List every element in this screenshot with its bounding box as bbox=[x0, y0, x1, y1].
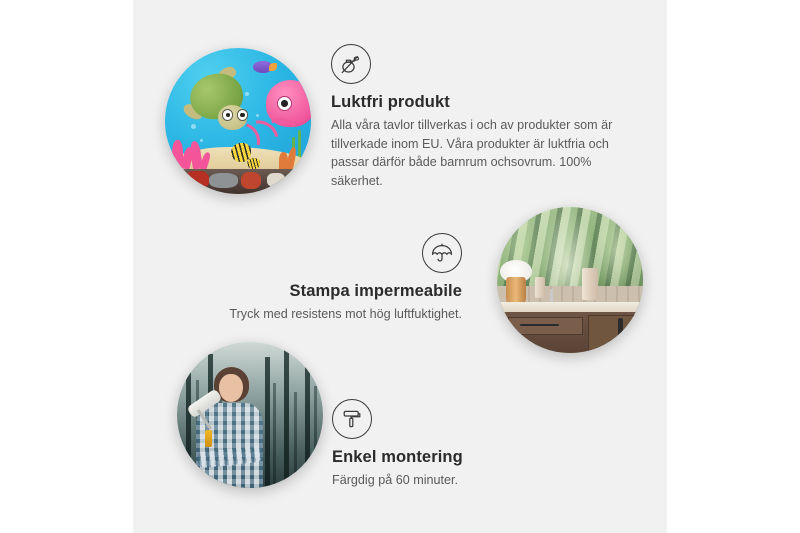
feature-body: Alla våra tavlor tillverkas i och av pro… bbox=[331, 116, 631, 191]
ocean-foreground-strip bbox=[165, 169, 311, 194]
photo-ocean-mural bbox=[165, 48, 311, 194]
product-feature-banner: Luktfri produkt Alla våra tavlor tillver… bbox=[0, 0, 800, 533]
umbrella-icon bbox=[422, 233, 462, 273]
faucet bbox=[550, 289, 553, 302]
feature-body: Tryck med resistens mot hög luftfuktighe… bbox=[216, 305, 462, 324]
no-odour-spray-bottle-icon bbox=[331, 44, 371, 84]
feature-waterproof: Stampa impermeabile Tryck med resistens … bbox=[216, 233, 462, 324]
soap-dispenser bbox=[535, 277, 545, 297]
photo-bathroom-wallpaper bbox=[497, 207, 643, 353]
feature-title: Luktfri produkt bbox=[331, 93, 631, 112]
vanity-cabinet bbox=[503, 312, 643, 353]
feature-mounting: Enkel montering Färgdig på 60 minuter. bbox=[332, 399, 592, 490]
paint-roller-icon bbox=[332, 399, 372, 439]
photo-woman-with-roller bbox=[177, 342, 323, 488]
toiletry-bottle bbox=[582, 268, 598, 300]
woman-face bbox=[219, 374, 242, 402]
feature-title: Enkel montering bbox=[332, 448, 592, 467]
feature-title: Stampa impermeabile bbox=[216, 282, 462, 301]
feature-body: Färgdig på 60 minuter. bbox=[332, 471, 592, 490]
feature-odourless: Luktfri produkt Alla våra tavlor tillver… bbox=[331, 44, 631, 191]
